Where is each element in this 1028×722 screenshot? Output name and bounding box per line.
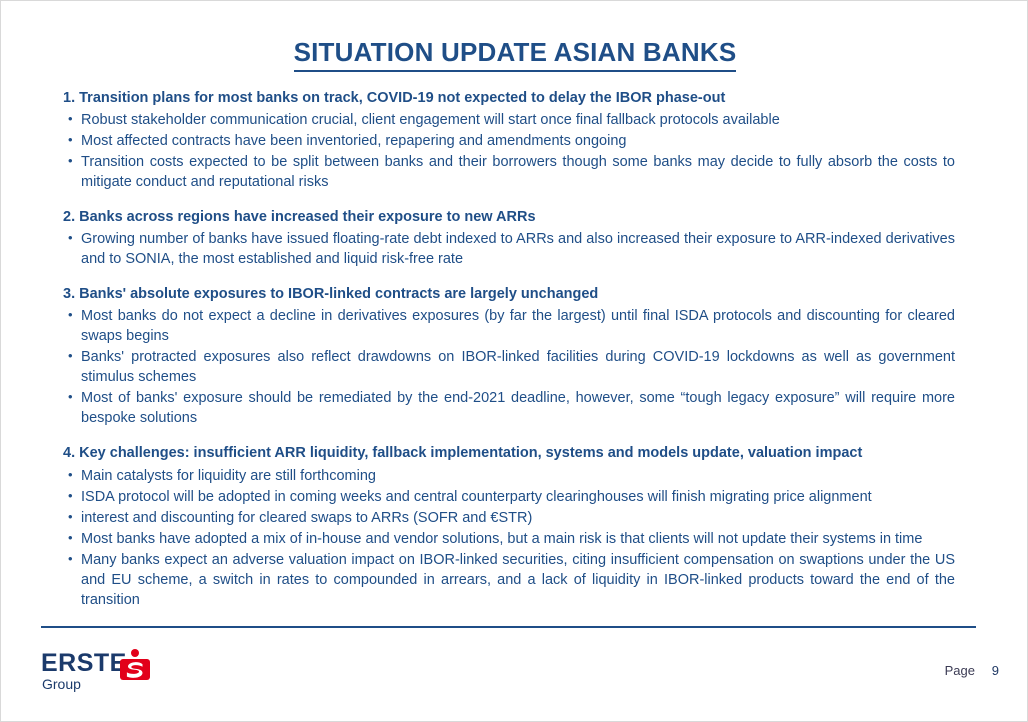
bullet-item: •Most of banks' exposure should be remed… [63, 388, 955, 428]
bullet-dot-icon: • [63, 508, 81, 526]
logo-wordmark-erste: ERSTE [41, 651, 127, 676]
page-number: 9 [992, 663, 999, 678]
bullet-dot-icon: • [63, 487, 81, 505]
bullet-dot-icon: • [63, 306, 81, 324]
section-heading: 1. Transition plans for most banks on tr… [63, 89, 955, 108]
bullet-dot-icon: • [63, 550, 81, 568]
page-label: Page [945, 663, 975, 678]
section-heading: 4. Key challenges: insufficient ARR liqu… [63, 444, 955, 463]
bullet-item: •Most banks do not expect a decline in d… [63, 306, 955, 346]
bullet-dot-icon: • [63, 466, 81, 484]
section-heading: 3. Banks' absolute exposures to IBOR-lin… [63, 285, 955, 304]
slide-title-container: SITUATION UPDATE ASIAN BANKS [1, 37, 1028, 72]
bullet-item: •Robust stakeholder communication crucia… [63, 110, 955, 130]
bullet-text: Most banks have adopted a mix of in-hous… [81, 529, 955, 549]
bullet-item: •ISDA protocol will be adopted in coming… [63, 487, 955, 507]
bullet-item: •Growing number of banks have issued flo… [63, 229, 955, 269]
savings-bank-s-icon [120, 649, 150, 680]
content-section: 2. Banks across regions have increased t… [63, 208, 955, 269]
content-section: 4. Key challenges: insufficient ARR liqu… [63, 444, 955, 609]
bullet-item: •Many banks expect an adverse valuation … [63, 550, 955, 610]
bullet-item: •Banks' protracted exposures also reflec… [63, 347, 955, 387]
bullet-item: •Main catalysts for liquidity are still … [63, 466, 955, 486]
bullet-item: •Most affected contracts have been inven… [63, 131, 955, 151]
logo-wordmark-group: Group [42, 677, 81, 691]
bullet-dot-icon: • [63, 388, 81, 406]
logo-dot-icon [131, 649, 139, 657]
bullet-text: Growing number of banks have issued floa… [81, 229, 955, 269]
bullet-item: •interest and discounting for cleared sw… [63, 508, 955, 528]
bullet-item: •Transition costs expected to be split b… [63, 152, 955, 192]
page-title: SITUATION UPDATE ASIAN BANKS [294, 37, 737, 72]
bullet-text: Most banks do not expect a decline in de… [81, 306, 955, 346]
bullet-dot-icon: • [63, 110, 81, 128]
bullet-text: interest and discounting for cleared swa… [81, 508, 955, 528]
footer-divider [41, 626, 976, 628]
bullet-dot-icon: • [63, 131, 81, 149]
bullet-text: Robust stakeholder communication crucial… [81, 110, 955, 130]
erste-group-logo: ERSTE Group [41, 649, 271, 701]
bullet-dot-icon: • [63, 152, 81, 170]
content-section: 1. Transition plans for most banks on tr… [63, 89, 955, 192]
bullet-text: Main catalysts for liquidity are still f… [81, 466, 955, 486]
bullet-text: Most of banks' exposure should be remedi… [81, 388, 955, 428]
slide-body: 1. Transition plans for most banks on tr… [63, 89, 955, 610]
bullet-text: Banks' protracted exposures also reflect… [81, 347, 955, 387]
bullet-dot-icon: • [63, 229, 81, 247]
bullet-dot-icon: • [63, 529, 81, 547]
bullet-text: ISDA protocol will be adopted in coming … [81, 487, 955, 507]
bullet-text: Many banks expect an adverse valuation i… [81, 550, 955, 610]
bullet-text: Transition costs expected to be split be… [81, 152, 955, 192]
section-heading: 2. Banks across regions have increased t… [63, 208, 955, 227]
bullet-item: •Most banks have adopted a mix of in-hou… [63, 529, 955, 549]
bullet-text: Most affected contracts have been invent… [81, 131, 955, 151]
content-section: 3. Banks' absolute exposures to IBOR-lin… [63, 285, 955, 428]
bullet-dot-icon: • [63, 347, 81, 365]
logo-s-glyph-icon [120, 659, 150, 680]
slide-canvas: SITUATION UPDATE ASIAN BANKS 1. Transiti… [0, 0, 1028, 722]
